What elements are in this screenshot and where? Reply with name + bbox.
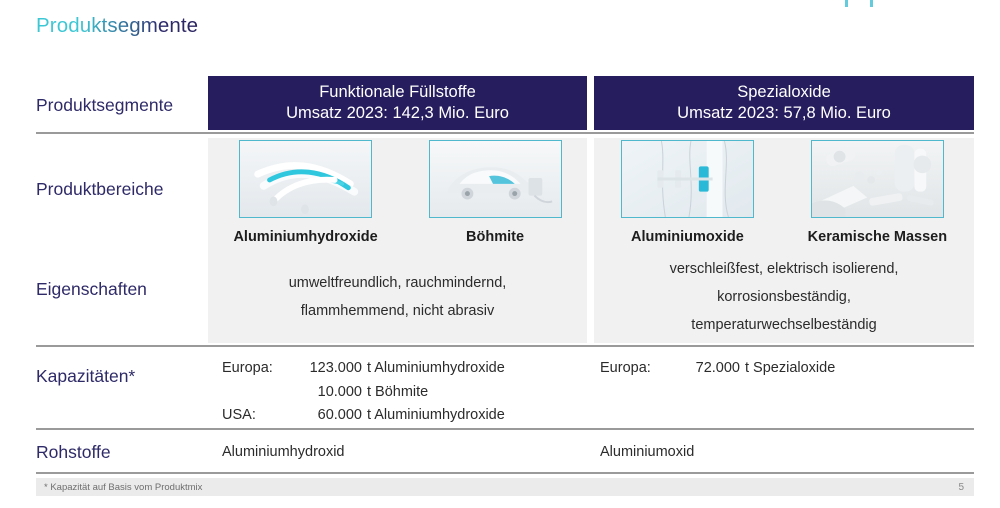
product-card-aluminiumoxide[interactable]: Aluminiumoxide: [621, 140, 754, 245]
row-label-eigenschaften: Eigenschaften: [36, 279, 147, 300]
property-line: temperaturwechselbeständig: [594, 312, 974, 340]
page-title: Produktsegmente: [36, 14, 198, 38]
capacity-unit: t Spezialoxide: [740, 357, 835, 381]
product-label: Keramische Massen: [808, 229, 947, 245]
slide-canvas: Produktsegmente Produktsegmente Produktb…: [0, 0, 1000, 508]
resistor-photo-icon: [621, 140, 754, 218]
segment-name: Spezialoxide: [737, 82, 831, 103]
capacity-region: Europa:: [222, 357, 300, 381]
car-photo-icon: [429, 140, 562, 218]
capacity-unit: t Böhmite: [362, 381, 428, 405]
property-line: korrosionsbeständig,: [594, 284, 974, 312]
raw-material-spezialoxide: Aluminiumoxid: [600, 444, 694, 460]
cables-photo-icon: [239, 140, 372, 218]
product-cards-funktionale-fuellstoffe: Aluminiumhydroxide: [208, 140, 587, 245]
property-line: flammhemmend, nicht abrasiv: [208, 298, 587, 326]
capacity-unit: t Aluminiumhydroxide: [362, 404, 505, 428]
ceramics-photo-icon: [811, 140, 944, 218]
capacities-spezialoxide: Europa: 72.000 t Spezialoxide: [600, 357, 835, 381]
slide-footer: * Kapazität auf Basis vom Produktmix 5: [36, 478, 974, 496]
segment-header-funktionale-fuellstoffe: Funktionale Füllstoffe Umsatz 2023: 142,…: [208, 76, 587, 130]
property-line: verschleißfest, elektrisch isolierend,: [594, 256, 974, 284]
product-label: Böhmite: [466, 229, 524, 245]
capacity-value: 60.000: [300, 404, 362, 428]
product-card-aluminiumhydroxide[interactable]: Aluminiumhydroxide: [233, 140, 377, 245]
divider-eigenschaften: [36, 345, 974, 347]
corner-accent-mark: [845, 0, 873, 7]
capacity-unit: t Aluminiumhydroxide: [362, 357, 505, 381]
page-number: 5: [958, 482, 964, 493]
product-cards-spezialoxide: Aluminiumoxide: [594, 140, 974, 245]
segment-name: Funktionale Füllstoffe: [319, 82, 476, 103]
product-label: Aluminiumhydroxide: [233, 229, 377, 245]
row-label-rohstoffe: Rohstoffe: [36, 442, 111, 463]
product-card-boehmite[interactable]: Böhmite: [429, 140, 562, 245]
row-label-produktbereiche: Produktbereiche: [36, 179, 163, 200]
capacity-value: 10.000: [300, 381, 362, 405]
raw-material-funktionale-fuellstoffe: Aluminiumhydroxid: [222, 444, 345, 460]
capacity-row: USA: 60.000 t Aluminiumhydroxide: [222, 404, 505, 428]
capacities-funktionale-fuellstoffe: Europa: 123.000 t Aluminiumhydroxide 10.…: [222, 357, 505, 428]
segment-header-spezialoxide: Spezialoxide Umsatz 2023: 57,8 Mio. Euro: [594, 76, 974, 130]
row-label-kapazitaeten: Kapazitäten*: [36, 366, 135, 387]
product-label: Aluminiumoxide: [631, 229, 744, 245]
capacity-row: Europa: 123.000 t Aluminiumhydroxide: [222, 357, 505, 381]
capacity-row: Europa: 72.000 t Spezialoxide: [600, 357, 835, 381]
capacity-region: Europa:: [600, 357, 678, 381]
divider-header: [36, 132, 974, 134]
segment-revenue: Umsatz 2023: 57,8 Mio. Euro: [677, 103, 891, 124]
capacity-region: [222, 381, 300, 405]
segment-revenue: Umsatz 2023: 142,3 Mio. Euro: [286, 103, 509, 124]
capacity-row: 10.000 t Böhmite: [222, 381, 505, 405]
properties-spezialoxide: verschleißfest, elektrisch isolierend, k…: [594, 256, 974, 340]
capacity-value: 123.000: [300, 357, 362, 381]
divider-kapazitaeten: [36, 428, 974, 430]
property-line: umweltfreundlich, rauchmindernd,: [208, 270, 587, 298]
row-label-produktsegmente: Produktsegmente: [36, 95, 173, 116]
properties-funktionale-fuellstoffe: umweltfreundlich, rauchmindernd, flammhe…: [208, 270, 587, 326]
capacity-value: 72.000: [678, 357, 740, 381]
product-card-keramische-massen[interactable]: Keramische Massen: [808, 140, 947, 245]
divider-rohstoffe: [36, 472, 974, 474]
footnote-text: * Kapazität auf Basis vom Produktmix: [44, 482, 202, 493]
capacity-region: USA:: [222, 404, 300, 428]
